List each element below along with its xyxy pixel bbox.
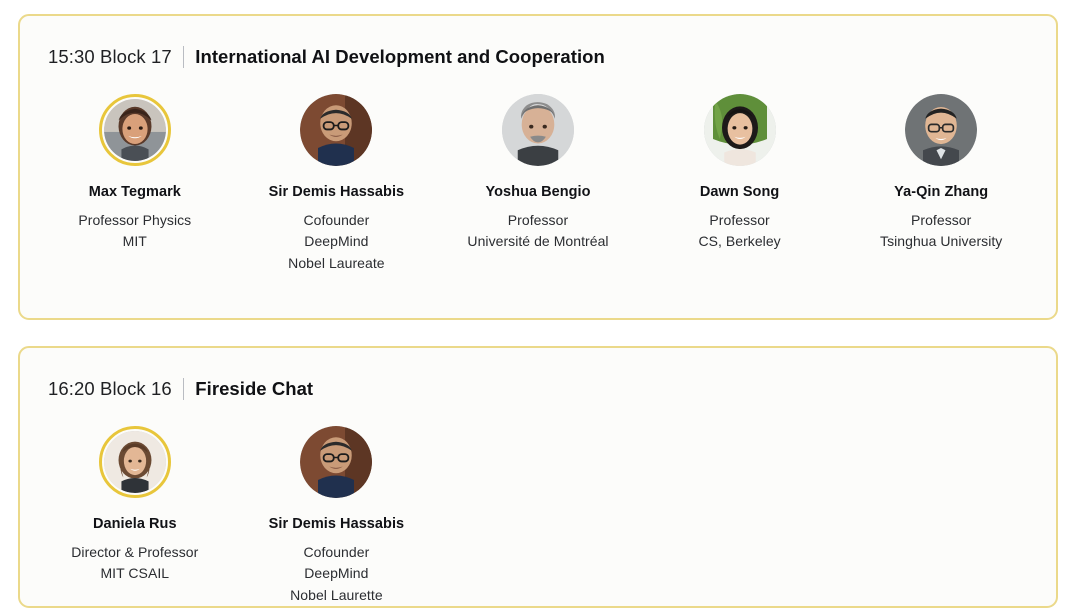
schedule-page: 15:30 Block 17 International AI Developm… bbox=[0, 0, 1080, 613]
session-title: International AI Development and Coopera… bbox=[195, 46, 605, 68]
session-card[interactable]: 15:30 Block 17 International AI Developm… bbox=[18, 14, 1058, 320]
speaker-card[interactable]: Dawn Song Professor CS, Berkeley bbox=[639, 94, 841, 253]
avatar-ring bbox=[502, 94, 574, 166]
role-line: DeepMind bbox=[288, 231, 384, 252]
avatar bbox=[905, 94, 977, 166]
speaker-grid: Max Tegmark Professor Physics MIT bbox=[20, 72, 1056, 274]
avatar-ring bbox=[99, 426, 171, 498]
speaker-role: Professor Université de Montréal bbox=[467, 210, 608, 253]
speaker-card[interactable]: Sir Demis Hassabis Cofounder DeepMind No… bbox=[236, 94, 438, 274]
role-line: Professor Physics bbox=[78, 210, 191, 231]
speaker-role: Professor CS, Berkeley bbox=[698, 210, 780, 253]
session-time-block: 16:20 Block 16 bbox=[48, 378, 172, 400]
role-line: Professor bbox=[698, 210, 780, 231]
avatar-ring bbox=[704, 94, 776, 166]
avatar bbox=[104, 99, 166, 161]
role-line: Cofounder bbox=[288, 210, 384, 231]
avatar bbox=[104, 431, 166, 493]
speaker-card[interactable]: Max Tegmark Professor Physics MIT bbox=[34, 94, 236, 253]
role-line: MIT CSAIL bbox=[71, 563, 198, 584]
role-line: Nobel Laurette bbox=[290, 585, 383, 606]
speaker-card[interactable]: Ya-Qin Zhang Professor Tsinghua Universi… bbox=[840, 94, 1042, 253]
avatar-ring bbox=[300, 426, 372, 498]
session-card[interactable]: 16:20 Block 16 Fireside Chat bbox=[18, 346, 1058, 608]
role-line: Director & Professor bbox=[71, 542, 198, 563]
speaker-role: Cofounder DeepMind Nobel Laureate bbox=[288, 210, 384, 274]
speaker-name: Daniela Rus bbox=[93, 515, 177, 533]
header-divider bbox=[183, 378, 185, 400]
role-line: Cofounder bbox=[290, 542, 383, 563]
speaker-name: Sir Demis Hassabis bbox=[269, 183, 405, 201]
avatar bbox=[300, 94, 372, 166]
role-line: Université de Montréal bbox=[467, 231, 608, 252]
role-line: Professor bbox=[880, 210, 1002, 231]
avatar-ring bbox=[905, 94, 977, 166]
role-line: Professor bbox=[467, 210, 608, 231]
avatar bbox=[704, 94, 776, 166]
avatar bbox=[300, 426, 372, 498]
avatar-ring bbox=[300, 94, 372, 166]
speaker-name: Sir Demis Hassabis bbox=[269, 515, 405, 533]
speaker-name: Max Tegmark bbox=[89, 183, 181, 201]
speaker-card[interactable]: Yoshua Bengio Professor Université de Mo… bbox=[437, 94, 639, 253]
session-title: Fireside Chat bbox=[195, 378, 313, 400]
header-divider bbox=[183, 46, 185, 68]
role-line: DeepMind bbox=[290, 563, 383, 584]
speaker-role: Professor Physics MIT bbox=[78, 210, 191, 253]
role-line: CS, Berkeley bbox=[698, 231, 780, 252]
speaker-card[interactable]: Daniela Rus Director & Professor MIT CSA… bbox=[34, 426, 236, 585]
session-header: 15:30 Block 17 International AI Developm… bbox=[20, 16, 1056, 72]
session-time-block: 15:30 Block 17 bbox=[48, 46, 172, 68]
speaker-grid: Daniela Rus Director & Professor MIT CSA… bbox=[20, 404, 1056, 606]
session-header: 16:20 Block 16 Fireside Chat bbox=[20, 348, 1056, 404]
speaker-role: Director & Professor MIT CSAIL bbox=[71, 542, 198, 585]
role-line: MIT bbox=[78, 231, 191, 252]
speaker-card[interactable]: Sir Demis Hassabis Cofounder DeepMind No… bbox=[236, 426, 438, 606]
speaker-name: Yoshua Bengio bbox=[485, 183, 590, 201]
speaker-role: Professor Tsinghua University bbox=[880, 210, 1002, 253]
speaker-name: Ya-Qin Zhang bbox=[894, 183, 988, 201]
role-line: Tsinghua University bbox=[880, 231, 1002, 252]
role-line: Nobel Laureate bbox=[288, 253, 384, 274]
avatar bbox=[502, 94, 574, 166]
speaker-name: Dawn Song bbox=[700, 183, 779, 201]
speaker-role: Cofounder DeepMind Nobel Laurette bbox=[290, 542, 383, 606]
avatar-ring bbox=[99, 94, 171, 166]
